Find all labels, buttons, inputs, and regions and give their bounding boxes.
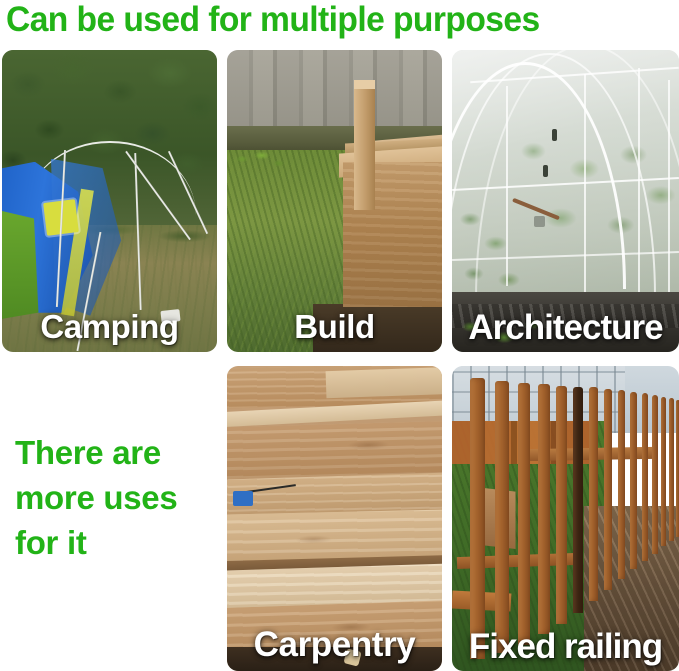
side-copy-block: There are more uses for it — [15, 430, 220, 565]
blue-tool — [233, 491, 252, 506]
fence-picket-4 — [538, 384, 549, 634]
architecture-photo — [452, 50, 679, 352]
fence-picket-7 — [589, 387, 598, 601]
side-copy-line-1: There are — [15, 430, 220, 475]
vertical-post-1 — [506, 86, 508, 285]
tile-camping[interactable]: Camping — [2, 50, 217, 352]
tile-label-fixed-railing: Fixed railing — [452, 627, 679, 667]
plank-1b — [325, 367, 442, 399]
tile-fixed-railing[interactable]: Fixed railing — [452, 366, 679, 671]
fixed-railing-photo — [452, 366, 679, 671]
fence-picket-11 — [642, 393, 648, 561]
corner-post — [354, 83, 376, 210]
fence-picket-6 — [573, 387, 583, 613]
tile-label-architecture: Architecture — [452, 308, 679, 348]
pipe-clamp-2 — [543, 165, 548, 177]
fence-picket-8 — [604, 389, 612, 590]
build-photo — [227, 50, 442, 352]
infographic-page: Can be used for multiple purposes There … — [0, 0, 679, 671]
fence-picket-10 — [630, 392, 637, 569]
tile-architecture[interactable]: Architecture — [452, 50, 679, 352]
vertical-post-2 — [584, 74, 586, 291]
fence-picket-12 — [652, 395, 658, 554]
vertical-post-3 — [638, 68, 640, 291]
fence-picket-2 — [495, 381, 509, 652]
post-cap — [354, 80, 376, 89]
fence-picket-3 — [518, 383, 530, 645]
tile-label-build: Build — [227, 308, 442, 346]
page-title: Can be used for multiple purposes — [6, 0, 540, 42]
pipe-clamp-1 — [552, 129, 557, 141]
fence-picket-5 — [556, 386, 566, 624]
weeds — [231, 141, 287, 177]
fence-picket-13 — [661, 397, 666, 546]
tile-label-camping: Camping — [2, 308, 217, 346]
side-copy-line-3: for it — [15, 520, 220, 565]
side-copy-line-2: more uses — [15, 475, 220, 520]
fence-picket-9 — [618, 390, 625, 579]
plank-3 — [227, 420, 442, 479]
fence-picket-1 — [470, 378, 485, 659]
connector-hub — [534, 216, 545, 227]
tile-build[interactable]: Build — [227, 50, 442, 352]
vertical-post-4 — [668, 80, 670, 291]
fence-picket-14 — [669, 398, 674, 541]
tile-label-carpentry: Carpentry — [227, 625, 442, 665]
tile-carpentry[interactable]: Carpentry — [227, 366, 442, 671]
camping-photo — [2, 50, 217, 352]
